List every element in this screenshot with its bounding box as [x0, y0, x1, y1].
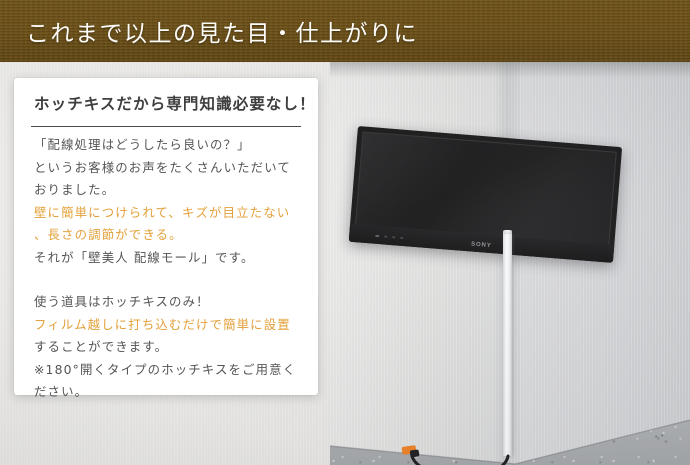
- floor-cable: [330, 392, 690, 465]
- body-line: それが「壁美人 配線モール」です。: [34, 247, 306, 270]
- panel-heading: ホッチキスだから専門知識必要なし！: [34, 92, 316, 114]
- tv-led: [375, 235, 379, 237]
- promo-screenshot: SONY これまで以上の見た目・仕上がりに ホッチキスだから専門知識必要なし！ …: [0, 0, 690, 465]
- body-line-accent: 、長さの調節ができる。: [34, 224, 306, 247]
- page-title: これまで以上の見た目・仕上がりに: [26, 14, 418, 48]
- paragraph: 使う道具はホッチキスのみ！フィルム越しに打ち込むだけで簡単に設置することができま…: [34, 291, 306, 404]
- header-bar: これまで以上の見た目・仕上がりに: [0, 0, 690, 62]
- info-panel: ホッチキスだから専門知識必要なし！ 「配線処理はどうしたら良いの？」というお客様…: [14, 78, 318, 395]
- body-line: することができます。: [34, 336, 306, 359]
- body-line: ださい。: [34, 381, 306, 404]
- tv-led: [400, 237, 403, 239]
- body-line: ※180°開くタイプのホッチキスをご用意く: [34, 359, 306, 382]
- tv-brand-logo: SONY: [471, 241, 492, 249]
- tv-indicator-leds: [375, 235, 403, 239]
- body-line: おりました。: [34, 179, 306, 202]
- panel-divider: [31, 126, 301, 127]
- body-line: 「配線処理はどうしたら良いの？」: [34, 134, 306, 157]
- wall-mounted-tv: SONY: [349, 126, 622, 263]
- body-line-accent: フィルム越しに打ち込むだけで簡単に設置: [34, 314, 306, 337]
- tv-body: SONY: [349, 126, 622, 263]
- ceiling-shadow: [330, 62, 690, 78]
- body-line: というお客様のお声をたくさんいただいて: [34, 157, 306, 180]
- panel-body: 「配線処理はどうしたら良いの？」というお客様のお声をたくさんいただいておりました…: [34, 134, 306, 404]
- tv-led: [392, 236, 395, 238]
- tv-led: [384, 235, 387, 237]
- body-line: 使う道具はホッチキスのみ！: [34, 291, 306, 314]
- body-line-accent: 壁に簡単につけられて、キズが目立たない: [34, 202, 306, 225]
- paragraph-spacer: [34, 269, 306, 291]
- paragraph: 「配線処理はどうしたら良いの？」というお客様のお声をたくさんいただいておりました…: [34, 134, 306, 269]
